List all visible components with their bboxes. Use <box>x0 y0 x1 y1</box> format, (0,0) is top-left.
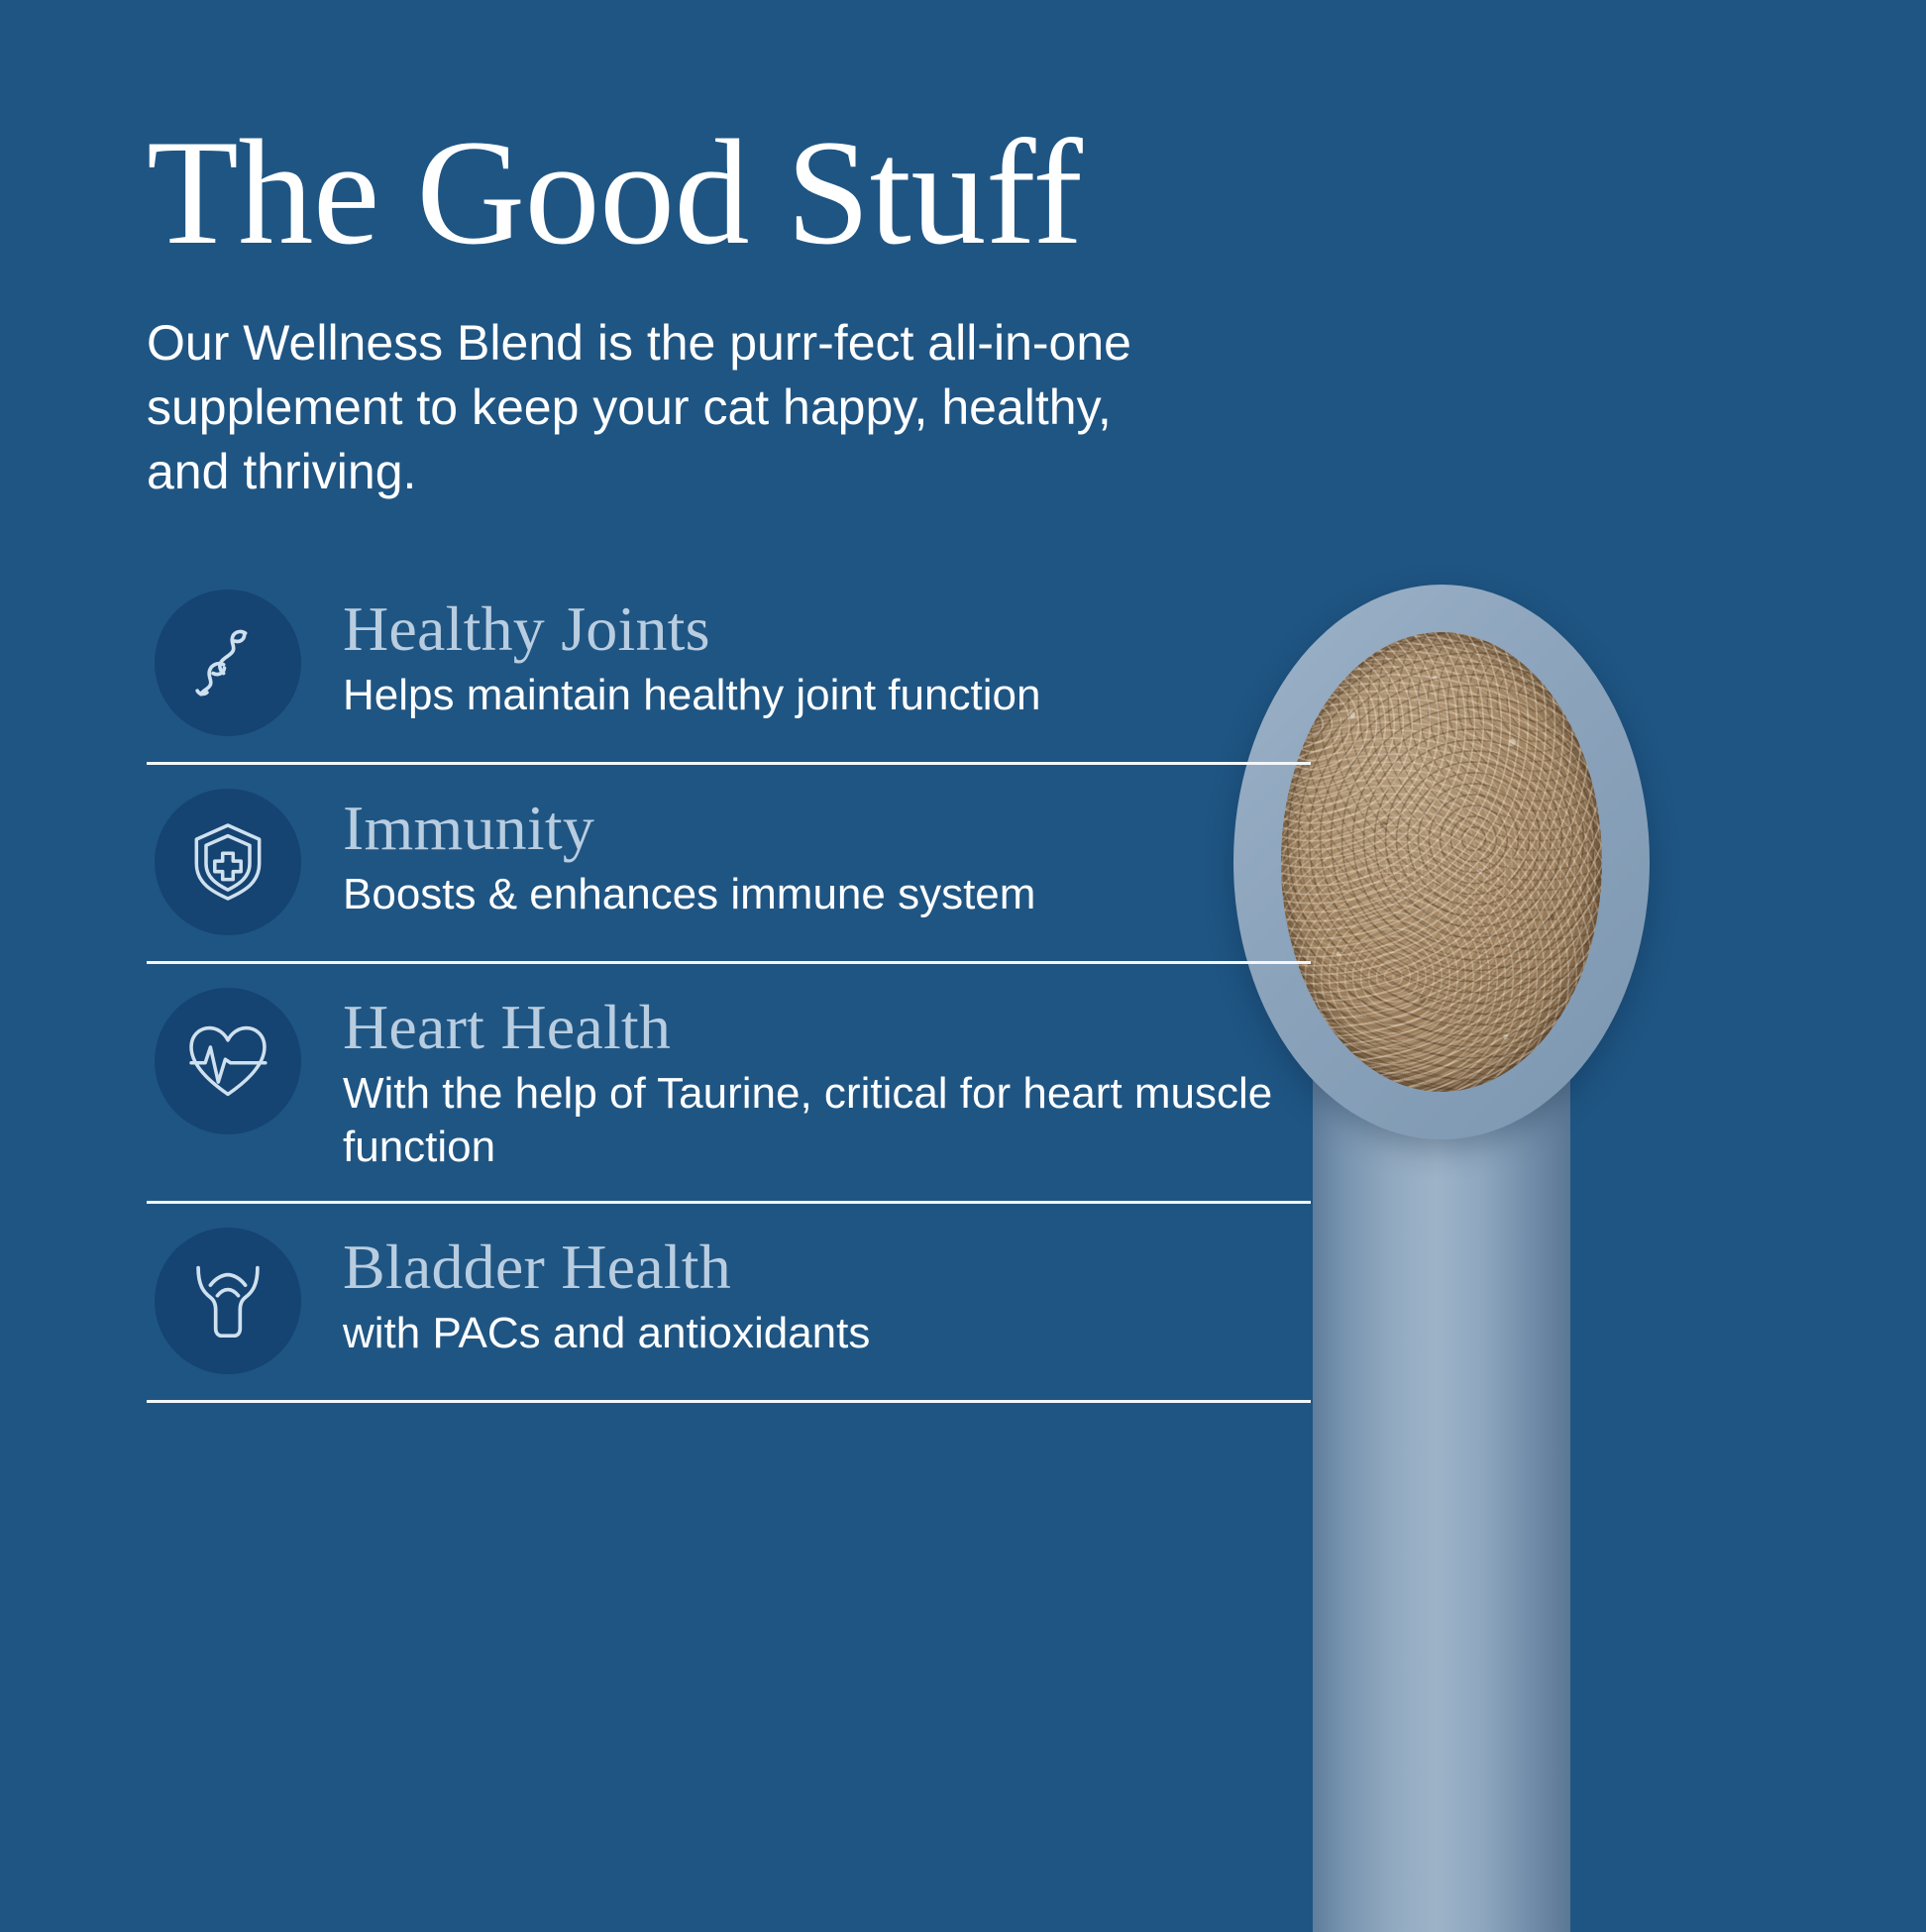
benefits-list: Healthy Joints Helps maintain healthy jo… <box>147 566 1311 1403</box>
benefit-row-healthy-joints: Healthy Joints Helps maintain healthy jo… <box>147 566 1311 762</box>
benefit-title: Bladder Health <box>343 1234 870 1301</box>
page-title: The Good Stuff <box>147 117 1238 268</box>
shield-cross-icon <box>155 789 301 935</box>
bladder-icon <box>155 1228 301 1374</box>
heart-pulse-icon <box>155 988 301 1134</box>
benefit-title: Healthy Joints <box>343 595 1040 663</box>
content-column: The Good Stuff Our Wellness Blend is the… <box>0 0 1238 1403</box>
benefit-text: Bladder Health with PACs and antioxidant… <box>343 1228 870 1360</box>
benefit-row-bladder-health: Bladder Health with PACs and antioxidant… <box>147 1201 1311 1400</box>
supplement-powder <box>1281 632 1602 1092</box>
benefit-text: Immunity Boosts & enhances immune system <box>343 789 1035 921</box>
joint-bone-icon <box>155 590 301 736</box>
benefit-description: With the help of Taurine, critical for h… <box>343 1067 1311 1175</box>
powder-grain-texture <box>1281 632 1602 1092</box>
benefit-text: Heart Health With the help of Taurine, c… <box>343 988 1311 1175</box>
benefit-description: with PACs and antioxidants <box>343 1307 870 1361</box>
intro-paragraph: Our Wellness Blend is the purr-fect all-… <box>147 311 1147 504</box>
benefit-title: Immunity <box>343 795 1035 862</box>
benefit-description: Boosts & enhances immune system <box>343 868 1035 922</box>
list-end-divider <box>147 1400 1311 1403</box>
benefit-text: Healthy Joints Helps maintain healthy jo… <box>343 590 1040 722</box>
benefit-description: Helps maintain healthy joint function <box>343 669 1040 723</box>
benefit-row-immunity: Immunity Boosts & enhances immune system <box>147 762 1311 961</box>
benefit-row-heart-health: Heart Health With the help of Taurine, c… <box>147 961 1311 1201</box>
benefit-title: Heart Health <box>343 994 1311 1061</box>
